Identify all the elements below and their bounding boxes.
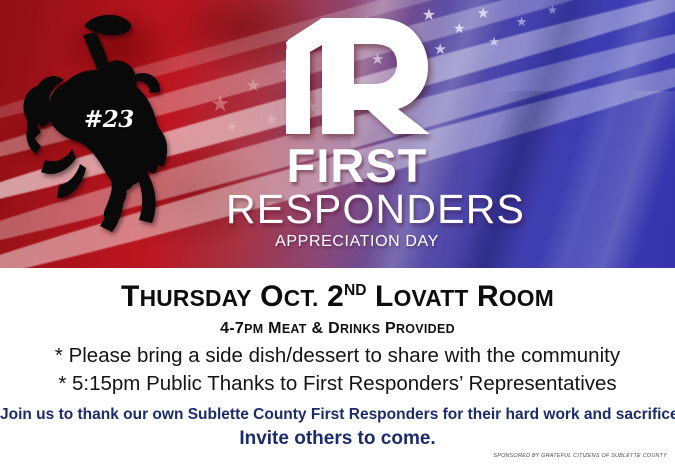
subhead-time: 4-7	[220, 320, 244, 337]
subhead-provided-cap: P	[385, 320, 396, 337]
headline-thursday-rest: HURSDAY	[140, 285, 252, 311]
headline-lovatt-rest: OVATT	[394, 285, 469, 311]
headline-room-rest: OOM	[499, 285, 554, 311]
subhead-ampersand: &	[311, 320, 323, 337]
headline-lovatt-cap: L	[375, 280, 394, 313]
headline-oct-rest: CT	[284, 285, 312, 311]
logo-line-responders: RESPONDERS	[226, 189, 488, 231]
sponsor-credit: SPONSORED BY GRATEFUL CITIZENS OF SUBLET…	[493, 453, 667, 459]
headline-thursday-cap: T	[121, 280, 140, 313]
headline-room-cap: R	[477, 280, 499, 313]
one-r-monogram-icon	[282, 14, 432, 142]
logo-line-first: FIRST	[226, 144, 488, 189]
event-subheadline: 4-7PM MEAT & DRINKS PROVIDED	[0, 320, 675, 338]
subhead-drinks-rest: RINKS	[340, 322, 380, 336]
call-to-action-line-2: Invite others to come.	[0, 428, 675, 450]
star-icon: ★	[488, 35, 500, 48]
horse-number-label: #23	[84, 106, 134, 133]
subhead-meat-cap: M	[268, 320, 282, 337]
star-icon: ★	[547, 4, 558, 16]
subhead-meat-rest: EAT	[282, 322, 307, 336]
detail-bullet-side-dish: * Please bring a side dish/dessert to sh…	[0, 344, 675, 368]
headline-period: .	[312, 285, 319, 311]
headline-day-suffix: ND	[344, 282, 367, 299]
subhead-drinks-cap: D	[328, 320, 340, 337]
first-responders-logo: FIRST RESPONDERS APPRECIATION DAY	[226, 14, 488, 251]
event-flyer: ★ ★ ★ ★ ★ ★ ★ ★ ★ ★ ★ ★ ★ ★ ★ ★ ★ ★ ★	[0, 0, 675, 470]
headline-day-number: 2	[327, 280, 344, 313]
subhead-provided-rest: ROVIDED	[396, 322, 455, 336]
detail-bullet-public-thanks: * 5:15pm Public Thanks to First Responde…	[0, 372, 675, 396]
flag-banner: ★ ★ ★ ★ ★ ★ ★ ★ ★ ★ ★ ★ ★ ★ ★ ★ ★ ★ ★	[0, 0, 675, 268]
subhead-ampm: PM	[244, 322, 263, 336]
star-icon: ★	[516, 15, 528, 28]
headline-oct-cap: O	[260, 280, 284, 313]
event-headline: THURSDAY OCT. 2ND LOVATT ROOM	[0, 280, 675, 314]
bucking-horse-silhouette-icon: #23	[18, 8, 218, 256]
call-to-action-line-1: Join us to thank our own Sublette County…	[0, 406, 675, 424]
event-details: THURSDAY OCT. 2ND LOVATT ROOM 4-7PM MEAT…	[0, 268, 675, 470]
logo-line-appreciation: APPRECIATION DAY	[226, 233, 488, 251]
